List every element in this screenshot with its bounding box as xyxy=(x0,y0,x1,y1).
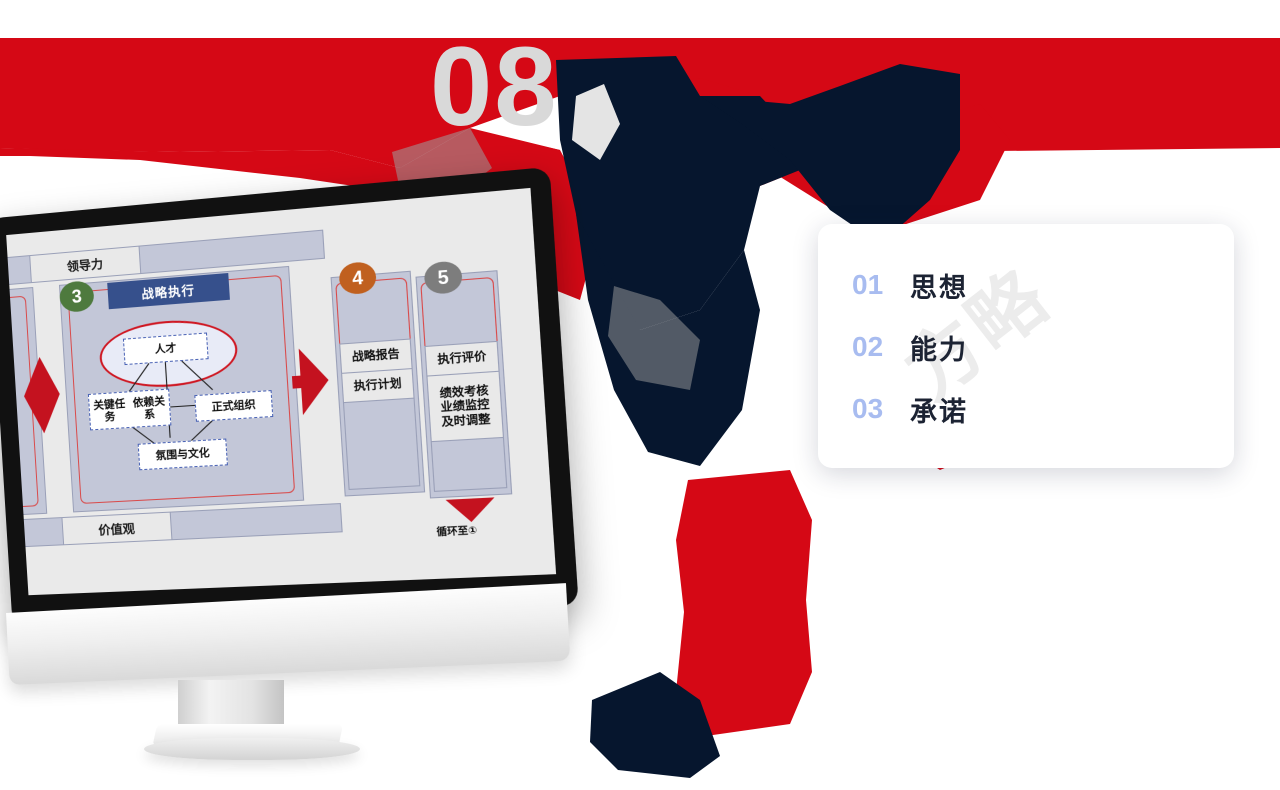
node-culture: 氛围与文化 xyxy=(138,439,228,471)
node-key-tasks-line1: 关键任务 xyxy=(89,397,130,424)
node-key-tasks-line2: 依赖关系 xyxy=(129,395,170,422)
background-number-watermark: 08 xyxy=(430,22,559,151)
list-item[interactable]: 01 思想 xyxy=(852,254,1234,316)
cell-step5-blank xyxy=(431,437,508,492)
cell-performance-monitor: 绩效考核 业绩监控 及时调整 xyxy=(426,371,504,444)
list-item-number: 02 xyxy=(852,331,910,363)
list-item-number: 01 xyxy=(852,269,910,301)
info-card: 方略 01 思想 02 能力 03 承诺 xyxy=(818,224,1234,468)
node-formal-org: 正式组织 xyxy=(194,390,273,422)
imac-monitor: 方略 领导力 价值观 业务设计 xyxy=(0,218,560,698)
list-item[interactable]: 02 能力 xyxy=(852,316,1234,378)
list-item[interactable]: 03 承诺 xyxy=(852,378,1234,440)
slide-stage: 08 方略 01 思想 02 能力 03 承诺 方略 xyxy=(0,0,1280,790)
monitor-stand-base xyxy=(144,738,360,760)
list-item-number: 03 xyxy=(852,393,910,425)
panel-step3-outline xyxy=(67,275,295,504)
top-band-label: 领导力 xyxy=(29,246,141,284)
list-item-label: 能力 xyxy=(910,328,968,367)
bottom-band-label: 价值观 xyxy=(61,512,172,546)
cell-perf-line3: 及时调整 xyxy=(441,413,491,430)
list-item-label: 思想 xyxy=(910,266,968,305)
list-item-label: 承诺 xyxy=(910,390,968,429)
monitor-display[interactable]: 方略 领导力 价值观 业务设计 xyxy=(6,188,556,595)
monitor-bezel: 方略 领导力 价值观 业务设计 xyxy=(0,167,579,626)
strategy-diagram: 领导力 价值观 业务设计 xyxy=(6,214,453,576)
bottom-band xyxy=(6,503,343,550)
presentation-slide: 方略 领导力 价值观 业务设计 xyxy=(6,188,556,595)
info-card-list: 01 思想 02 能力 03 承诺 xyxy=(818,224,1234,440)
node-key-tasks: 关键任务 依赖关系 xyxy=(88,389,172,431)
cell-step4-blank xyxy=(343,398,420,490)
cycle-note: 循环至① xyxy=(436,522,477,539)
